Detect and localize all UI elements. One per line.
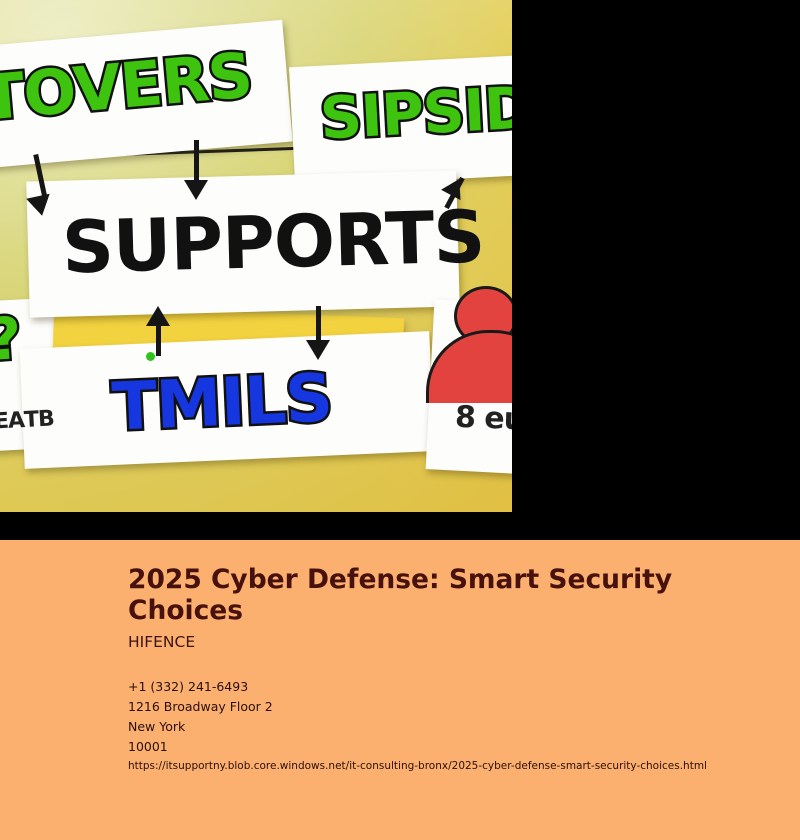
sign-question-mark: ? bbox=[0, 309, 23, 369]
address-line-1: 1216 Broadway Floor 2 bbox=[128, 697, 748, 717]
page-url[interactable]: https://itsupportny.blob.core.windows.ne… bbox=[128, 760, 707, 772]
arrow-down-center bbox=[194, 140, 199, 184]
sign-word-top-right: SIPSID bbox=[319, 79, 512, 148]
page-title: 2025 Cyber Defense: Smart Security Choic… bbox=[128, 564, 688, 627]
red-person-body bbox=[426, 330, 512, 403]
sign-word-center: SUPPORTS bbox=[61, 200, 485, 283]
arrow-head-down-lower-right-icon bbox=[306, 340, 330, 360]
hero-image: TOVERS SIPSID SUPPORTS TMILS ? EAТВ 8 eu bbox=[0, 0, 512, 512]
arrow-head-up-lower-left-icon bbox=[146, 306, 170, 326]
brand-name: HIFENCE bbox=[128, 633, 195, 651]
hero-band: TOVERS SIPSID SUPPORTS TMILS ? EAТВ 8 eu bbox=[0, 0, 800, 540]
arrow-head-down-center-icon bbox=[184, 180, 208, 200]
green-dot-marker bbox=[146, 352, 155, 361]
address-zip: 10001 bbox=[128, 737, 748, 757]
sign-word-right-tiny: 8 eu bbox=[454, 403, 512, 435]
sign-word-left-tiny: EAТВ bbox=[0, 408, 54, 433]
contact-details: +1 (332) 241-6493 1216 Broadway Floor 2 … bbox=[128, 677, 748, 757]
address-city: New York bbox=[128, 717, 748, 737]
page-root: TOVERS SIPSID SUPPORTS TMILS ? EAТВ 8 eu… bbox=[0, 0, 800, 840]
phone-number: +1 (332) 241-6493 bbox=[128, 677, 748, 697]
content-panel: 2025 Cyber Defense: Smart Security Choic… bbox=[0, 540, 800, 840]
sign-word-bottom: TMILS bbox=[111, 365, 334, 441]
red-person-illustration bbox=[430, 286, 512, 416]
